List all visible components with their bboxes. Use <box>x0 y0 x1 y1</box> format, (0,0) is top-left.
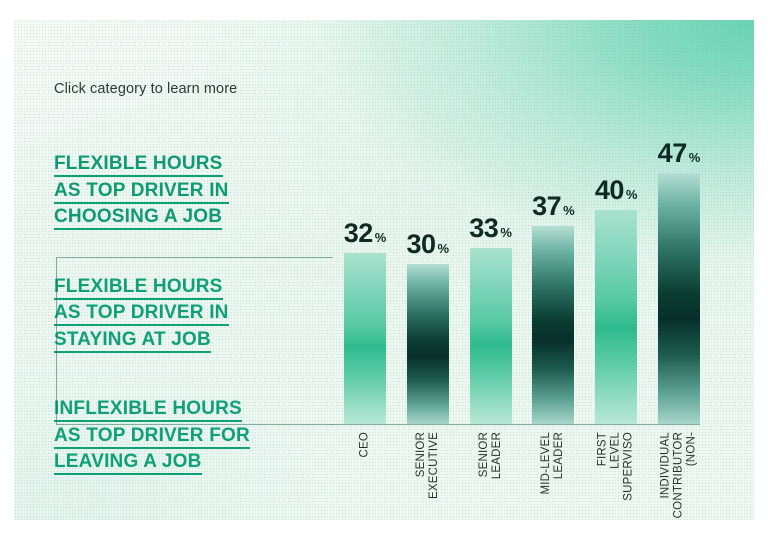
x-label-line: EXECUTIVE <box>428 432 441 499</box>
infographic-root: Click category to learn more FLEXIBLE HO… <box>0 0 768 540</box>
bar-ceo[interactable] <box>344 253 386 424</box>
bar-value-number: 40 <box>595 175 624 205</box>
x-label-slot-senior-executive: SENIOR EXECUTIVE <box>407 432 449 520</box>
bar-senior-executive[interactable] <box>407 264 449 424</box>
bar-first-level-supervisor[interactable] <box>595 210 637 424</box>
x-label-line: (NON- <box>685 432 698 518</box>
category-nav: FLEXIBLE HOURS AS TOP DRIVER IN CHOOSING… <box>54 151 316 476</box>
bar-value-label-mid-level-leader: 37% <box>532 193 575 220</box>
x-label-line: MID-LEVEL <box>540 432 553 495</box>
nav-item-line: AS TOP DRIVER FOR <box>54 425 250 449</box>
x-label-senior-leader: SENIOR LEADER <box>478 432 504 479</box>
x-label-line: LEADER <box>553 432 566 495</box>
x-label-line: SUPERVISO <box>623 432 636 501</box>
bar-value-label-senior-executive: 30% <box>406 231 449 258</box>
x-label-slot-individual-contributor: INDIVIDUAL CONTRIBUTOR (NON- <box>658 432 700 520</box>
bar-slot-ceo[interactable]: 32% <box>344 130 386 424</box>
x-label-mid-level-leader: MID-LEVEL LEADER <box>540 432 566 495</box>
nav-item-line: STAYING AT JOB <box>54 329 211 353</box>
nav-item-line: CHOOSING A JOB <box>54 206 222 230</box>
bar-slot-senior-leader[interactable]: 33% <box>470 130 512 424</box>
bar-value-number: 32 <box>344 218 373 248</box>
x-label-individual-contributor: INDIVIDUAL CONTRIBUTOR (NON- <box>659 432 698 518</box>
panel-content: Click category to learn more FLEXIBLE HO… <box>14 20 754 520</box>
chart-bars: 32% 30% 33% <box>344 130 700 424</box>
click-hint-text: Click category to learn more <box>54 81 237 97</box>
nav-item-flexible-choosing[interactable]: FLEXIBLE HOURS AS TOP DRIVER IN CHOOSING… <box>54 151 316 231</box>
chart-x-axis-labels: CEO SENIOR EXECUTIVE SENIOR LEADER <box>344 432 700 520</box>
bar-senior-leader[interactable] <box>470 248 512 424</box>
percent-sign: % <box>500 225 512 240</box>
x-label-line: FIRST <box>597 432 610 501</box>
bar-value-label-first-level-supervisor: 40% <box>595 177 638 204</box>
percent-sign: % <box>626 187 638 202</box>
nav-item-line: AS TOP DRIVER IN <box>54 302 229 326</box>
nav-item-inflexible-leaving[interactable]: INFLEXIBLE HOURS AS TOP DRIVER FOR LEAVI… <box>54 396 316 476</box>
x-label-ceo: CEO <box>359 432 372 458</box>
x-label-slot-mid-level-leader: MID-LEVEL LEADER <box>532 432 574 520</box>
nav-item-line: LEAVING A JOB <box>54 451 202 475</box>
bar-value-number: 30 <box>406 229 435 259</box>
bar-value-number: 33 <box>469 213 498 243</box>
nav-item-line: FLEXIBLE HOURS <box>54 153 223 177</box>
bar-slot-individual-contributor[interactable]: 47% <box>658 130 700 424</box>
bar-value-label-individual-contributor: 47% <box>658 140 701 167</box>
bar-value-number: 47 <box>658 138 687 168</box>
x-label-line: SENIOR <box>478 432 491 479</box>
chart-baseline-axis <box>332 424 700 425</box>
x-label-slot-senior-leader: SENIOR LEADER <box>470 432 512 520</box>
x-label-senior-executive: SENIOR EXECUTIVE <box>415 432 441 499</box>
x-label-slot-first-level-supervisor: FIRST LEVEL SUPERVISO <box>595 432 637 520</box>
percent-sign: % <box>375 230 387 245</box>
x-label-line: LEVEL <box>610 432 623 501</box>
percent-sign: % <box>438 241 450 256</box>
percent-sign: % <box>563 203 575 218</box>
x-label-slot-ceo: CEO <box>344 432 386 520</box>
bar-value-number: 37 <box>532 191 561 221</box>
bar-mid-level-leader[interactable] <box>532 226 574 424</box>
nav-item-line: AS TOP DRIVER IN <box>54 180 229 204</box>
x-label-first-level-supervisor: FIRST LEVEL SUPERVISO <box>597 432 636 501</box>
x-label-line: SENIOR <box>415 432 428 499</box>
bar-chart: 32% 30% 33% <box>332 130 704 520</box>
textured-panel: Click category to learn more FLEXIBLE HO… <box>14 20 754 520</box>
x-label-line: LEADER <box>491 432 504 479</box>
bar-value-label-ceo: 32% <box>344 220 387 247</box>
nav-item-flexible-staying[interactable]: FLEXIBLE HOURS AS TOP DRIVER IN STAYING … <box>54 274 316 354</box>
bar-value-label-senior-leader: 33% <box>469 215 512 242</box>
nav-item-line: FLEXIBLE HOURS <box>54 276 223 300</box>
x-label-line: CEO <box>359 432 372 458</box>
x-label-line: INDIVIDUAL <box>659 432 672 518</box>
chart-plot-area: 32% 30% 33% <box>332 130 704 424</box>
percent-sign: % <box>689 150 701 165</box>
bar-slot-mid-level-leader[interactable]: 37% <box>532 130 574 424</box>
bar-slot-first-level-supervisor[interactable]: 40% <box>595 130 637 424</box>
nav-item-line: INFLEXIBLE HOURS <box>54 398 242 422</box>
x-label-line: CONTRIBUTOR <box>672 432 685 518</box>
bar-individual-contributor[interactable] <box>658 173 700 424</box>
bar-slot-senior-executive[interactable]: 30% <box>407 130 449 424</box>
